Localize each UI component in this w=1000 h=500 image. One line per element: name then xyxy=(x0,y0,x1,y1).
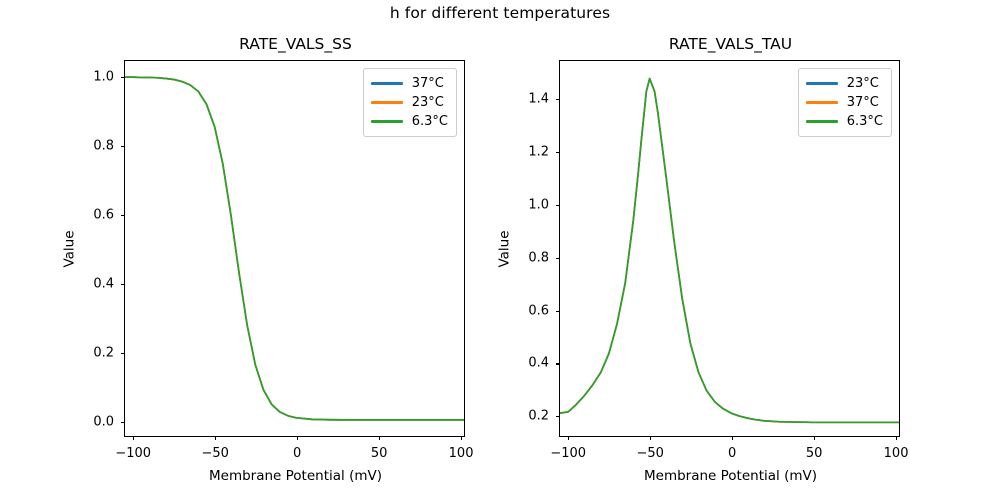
x-tick-label: 0 xyxy=(293,446,301,461)
subplot-title-left: RATE_VALS_SS xyxy=(125,35,466,53)
y-tick-mark xyxy=(556,205,560,206)
x-tick-label: −100 xyxy=(115,446,151,461)
legend-label: 37°C xyxy=(412,76,444,91)
x-tick-label: 50 xyxy=(806,446,823,461)
legend-label: 37°C xyxy=(847,95,879,110)
y-tick-mark xyxy=(121,77,125,78)
y-tick-mark xyxy=(121,422,125,423)
x-tick-mark xyxy=(650,436,651,440)
y-tick-mark xyxy=(121,353,125,354)
x-tick-label: 100 xyxy=(884,446,909,461)
legend-label: 6.3°C xyxy=(412,114,448,129)
x-tick-label: 100 xyxy=(449,446,474,461)
x-tick-label: −50 xyxy=(201,446,228,461)
legend-color-swatch xyxy=(806,120,838,123)
y-tick-label: 1.0 xyxy=(93,70,114,85)
y-tick-label: 0.4 xyxy=(528,356,549,371)
legend-label: 23°C xyxy=(847,76,879,91)
y-axis-label-right: Value xyxy=(497,230,513,267)
legend-item[interactable]: 6.3°C xyxy=(371,112,448,131)
x-tick-mark xyxy=(215,436,216,440)
x-tick-mark xyxy=(732,436,733,440)
x-axis-label-left: Membrane Potential (mV) xyxy=(125,468,466,484)
axes-rate-vals-tau: RATE_VALS_TAU Value Membrane Potential (… xyxy=(559,60,900,437)
legend-color-swatch xyxy=(806,82,838,85)
y-tick-label: 1.4 xyxy=(528,92,549,107)
axes-rate-vals-ss: RATE_VALS_SS Value Membrane Potential (m… xyxy=(124,60,465,437)
y-tick-mark xyxy=(556,363,560,364)
x-tick-mark xyxy=(896,436,897,440)
y-tick-mark xyxy=(556,152,560,153)
y-tick-label: 0.8 xyxy=(93,139,114,154)
y-tick-mark xyxy=(556,416,560,417)
y-tick-mark xyxy=(556,311,560,312)
y-tick-mark xyxy=(121,146,125,147)
x-tick-mark xyxy=(568,436,569,440)
y-axis-label-left: Value xyxy=(62,230,78,267)
y-tick-label: 1.2 xyxy=(528,145,549,160)
legend-label: 6.3°C xyxy=(847,114,883,129)
y-tick-label: 0.0 xyxy=(93,414,114,429)
y-tick-label: 1.0 xyxy=(528,197,549,212)
subplot-title-right: RATE_VALS_TAU xyxy=(560,35,901,53)
legend-color-swatch xyxy=(371,120,403,123)
legend-color-swatch xyxy=(371,101,403,104)
x-tick-label: 50 xyxy=(371,446,388,461)
legend-left[interactable]: 37°C23°C6.3°C xyxy=(363,68,457,137)
y-tick-label: 0.6 xyxy=(93,208,114,223)
x-axis-label-right: Membrane Potential (mV) xyxy=(560,468,901,484)
legend-color-swatch xyxy=(806,101,838,104)
y-tick-label: 0.2 xyxy=(93,345,114,360)
legend-item[interactable]: 37°C xyxy=(371,74,448,93)
legend-item[interactable]: 23°C xyxy=(371,93,448,112)
y-tick-mark xyxy=(121,284,125,285)
x-tick-mark xyxy=(297,436,298,440)
legend-color-swatch xyxy=(371,82,403,85)
legend-right[interactable]: 23°C37°C6.3°C xyxy=(798,68,892,137)
y-tick-label: 0.6 xyxy=(528,303,549,318)
matplotlib-figure: h for different temperatures RATE_VALS_S… xyxy=(0,0,1000,500)
y-tick-mark xyxy=(556,99,560,100)
legend-item[interactable]: 6.3°C xyxy=(806,112,883,131)
legend-item[interactable]: 37°C xyxy=(806,93,883,112)
x-tick-label: −100 xyxy=(550,446,586,461)
x-tick-mark xyxy=(379,436,380,440)
x-tick-label: 0 xyxy=(728,446,736,461)
figure-suptitle: h for different temperatures xyxy=(0,4,1000,22)
y-tick-label: 0.2 xyxy=(528,409,549,424)
y-tick-mark xyxy=(121,215,125,216)
y-tick-mark xyxy=(556,258,560,259)
legend-label: 23°C xyxy=(412,95,444,110)
y-tick-label: 0.8 xyxy=(528,250,549,265)
x-tick-mark xyxy=(133,436,134,440)
legend-item[interactable]: 23°C xyxy=(806,74,883,93)
y-tick-label: 0.4 xyxy=(93,276,114,291)
x-tick-mark xyxy=(814,436,815,440)
x-tick-label: −50 xyxy=(636,446,663,461)
x-tick-mark xyxy=(461,436,462,440)
